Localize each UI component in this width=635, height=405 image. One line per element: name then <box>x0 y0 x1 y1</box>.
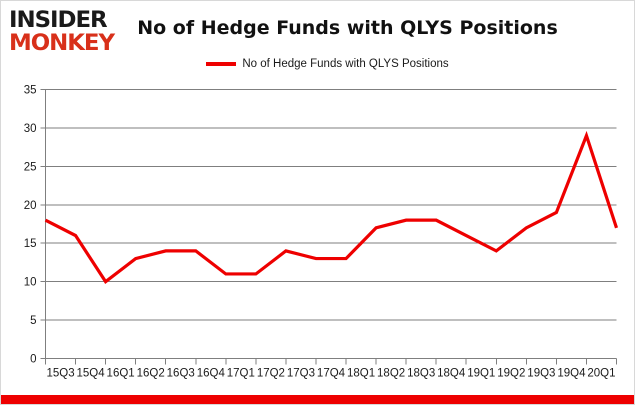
x-axis-label: 16Q3 <box>167 368 195 380</box>
y-axis-label: 0 <box>30 354 36 366</box>
x-axis-label: 18Q4 <box>437 368 466 380</box>
x-axis-label: 17Q4 <box>317 368 346 380</box>
x-axis-label: 20Q1 <box>587 368 615 380</box>
x-axis-label: 17Q1 <box>227 368 255 380</box>
x-axis-label: 17Q3 <box>287 368 315 380</box>
x-axis-label: 19Q4 <box>557 368 586 380</box>
x-axis-label: 15Q4 <box>77 368 106 380</box>
series-line-hedge-funds <box>46 136 617 282</box>
x-axis-label: 19Q3 <box>527 368 555 380</box>
x-axis-label: 16Q2 <box>137 368 165 380</box>
chart-svg: 0510152025303515Q315Q416Q116Q216Q316Q417… <box>1 1 635 405</box>
x-axis-label: 18Q2 <box>377 368 405 380</box>
x-axis-label: 19Q2 <box>497 368 525 380</box>
y-axis-label: 10 <box>24 277 37 289</box>
x-axis-label: 15Q3 <box>46 368 74 380</box>
y-axis-label: 25 <box>24 161 37 173</box>
y-axis-label: 15 <box>24 238 37 250</box>
x-axis-label: 19Q1 <box>467 368 495 380</box>
chart-page: INSIDER MONKEY No of Hedge Funds with QL… <box>0 0 635 405</box>
y-axis-label: 35 <box>24 85 37 97</box>
x-axis-label: 18Q3 <box>407 368 435 380</box>
x-axis-label: 16Q4 <box>197 368 226 380</box>
x-axis-label: 16Q1 <box>107 368 135 380</box>
y-axis-label: 30 <box>24 123 37 135</box>
plot-area: 0510152025303515Q315Q416Q116Q216Q316Q417… <box>1 1 635 405</box>
bottom-accent-bar <box>1 395 635 404</box>
y-axis-label: 5 <box>30 315 36 327</box>
x-axis-label: 18Q1 <box>347 368 375 380</box>
y-axis-label: 20 <box>24 200 37 212</box>
x-axis-label: 17Q2 <box>257 368 285 380</box>
